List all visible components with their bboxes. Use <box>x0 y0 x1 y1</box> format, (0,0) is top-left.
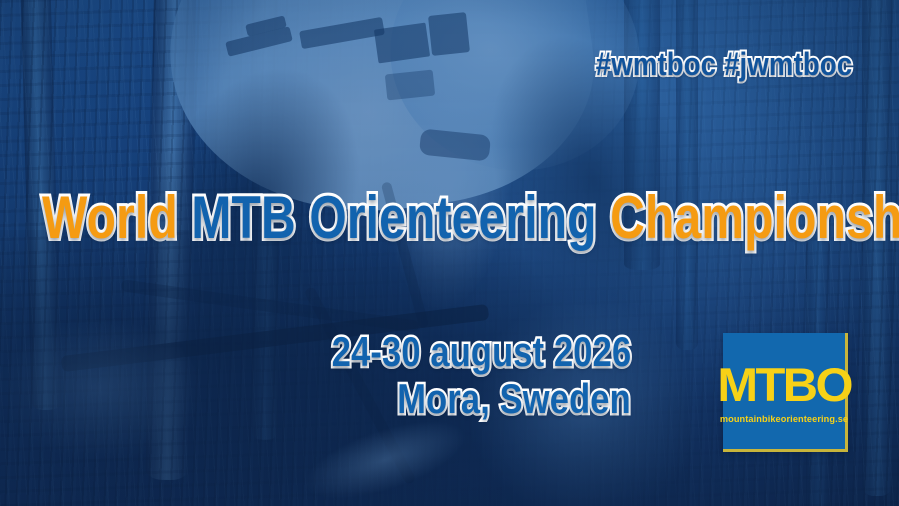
mtbo-logo[interactable]: MTBO mountainbikeorienteering.se <box>723 333 848 452</box>
page-title: World MTB Orienteering Championships <box>42 188 899 248</box>
event-dates: 24-30 august 2026 <box>331 331 631 373</box>
mtbo-tagline-part2: orienteering.se <box>781 414 848 424</box>
title-word-mtb-orienteering: MTB Orienteering <box>191 184 596 251</box>
event-location: Mora, Sweden <box>397 378 631 420</box>
mtbo-logo-wordmark: MTBO <box>717 361 851 408</box>
mtbo-logo-tagline: mountainbikeorienteering.se <box>720 415 848 424</box>
hashtags: #wmtboc #jwmtboc <box>595 48 852 80</box>
title-word-championships: Championships <box>610 184 899 251</box>
event-poster: #wmtboc #jwmtboc World MTB Orienteering … <box>0 0 899 506</box>
title-word-world: World <box>42 184 178 251</box>
mtbo-tagline-part1: mountainbike <box>720 414 781 424</box>
